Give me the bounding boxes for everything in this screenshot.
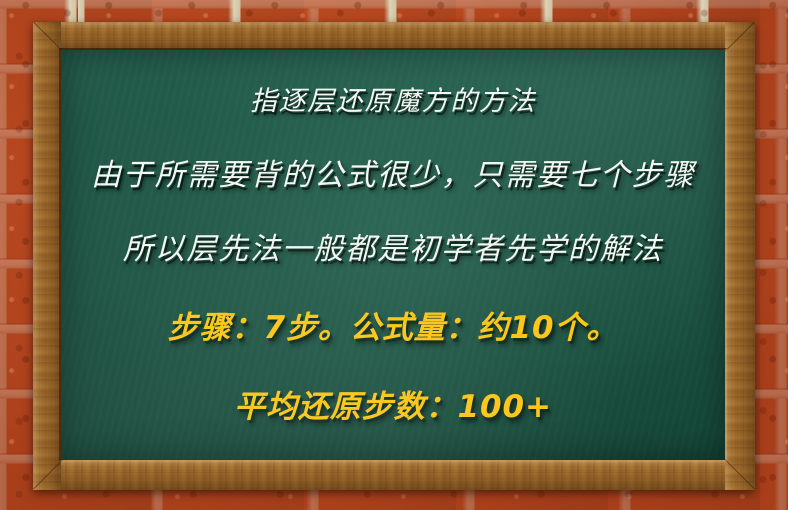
frame-rail-top [33, 22, 755, 50]
chalkboard-surface: 指逐层还原魔方的方法 由于所需要背的公式很少，只需要七个步骤 所以层先法一般都是… [61, 50, 725, 460]
frame-rail-right [725, 22, 755, 490]
frame-rail-bottom [33, 460, 755, 490]
board-line-title: 指逐层还原魔方的方法 [91, 79, 695, 118]
frame-rail-left [33, 22, 61, 490]
chalkboard-scene: 指逐层还原魔方的方法 由于所需要背的公式很少，只需要七个步骤 所以层先法一般都是… [0, 0, 788, 510]
chalkboard-text-block: 指逐层还原魔方的方法 由于所需要背的公式很少，只需要七个步骤 所以层先法一般都是… [61, 50, 725, 460]
wooden-frame: 指逐层还原魔方的方法 由于所需要背的公式很少，只需要七个步骤 所以层先法一般都是… [33, 22, 755, 490]
board-line-body-2: 所以层先法一般都是初学者先学的解法 [91, 224, 695, 268]
board-line-highlight-average-moves: 平均还原步数：100+ [91, 381, 695, 426]
board-line-highlight-steps: 步骤：7步。公式量：约10个。 [91, 302, 695, 347]
board-line-body-1: 由于所需要背的公式很少，只需要七个步骤 [91, 150, 695, 194]
